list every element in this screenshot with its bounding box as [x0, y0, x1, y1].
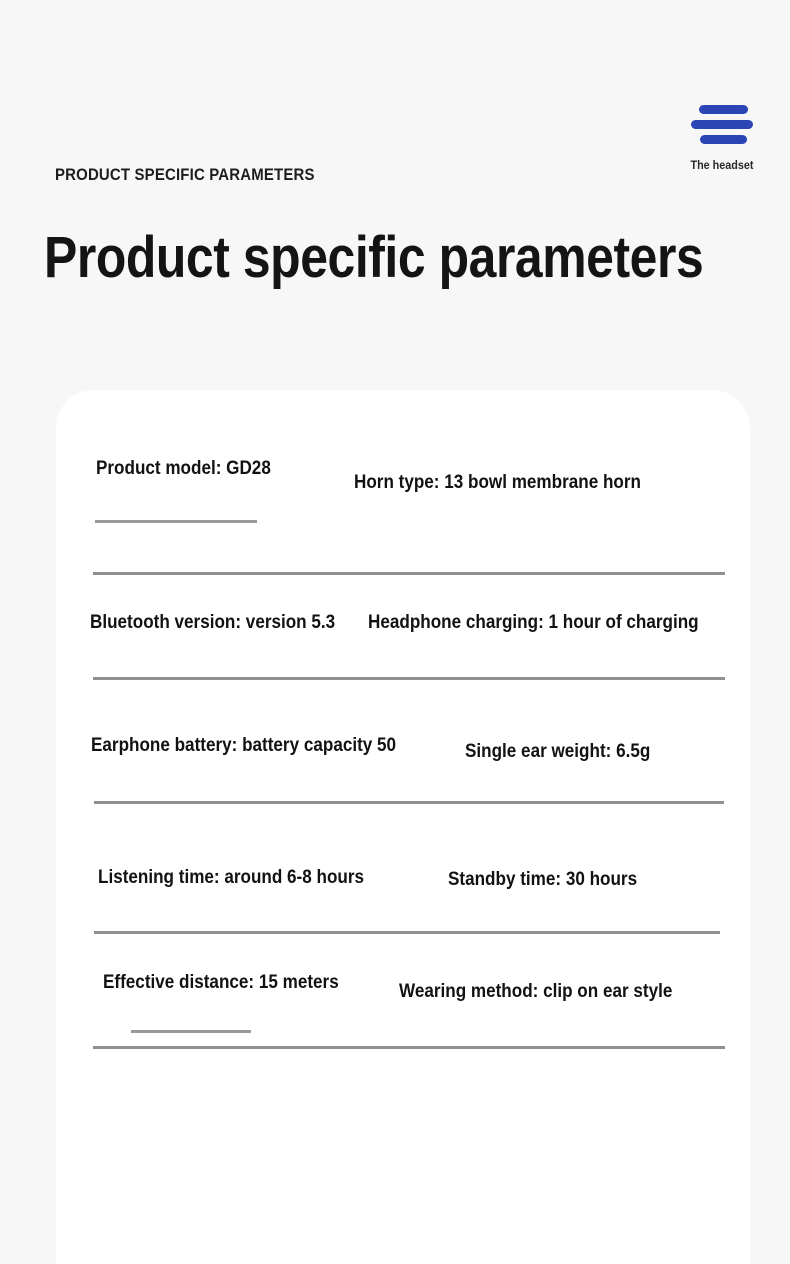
spec-cell-left: Listening time: around 6-8 hours	[98, 867, 364, 890]
page-header: PRODUCT SPECIFIC PARAMETERS Product spec…	[0, 0, 790, 310]
brand-name: The headset	[681, 158, 764, 172]
row-divider	[94, 931, 720, 934]
brand-logo: The headset	[676, 100, 768, 172]
spec-cell-left: Earphone battery: battery capacity 50	[91, 735, 396, 758]
row-divider	[93, 572, 725, 575]
spec-card: Product model: GD28 Horn type: 13 bowl m…	[56, 390, 750, 1264]
faint-band	[56, 390, 678, 462]
spec-cell-right: Horn type: 13 bowl membrane horn	[354, 472, 641, 495]
page-title: Product specific parameters	[44, 228, 703, 289]
spec-cell-right: Wearing method: clip on ear style	[399, 981, 672, 1004]
row-divider	[93, 677, 725, 680]
row-underline-short	[131, 1030, 251, 1033]
three-bars-icon	[687, 100, 757, 150]
spec-cell-right: Standby time: 30 hours	[448, 869, 637, 892]
logo-bar-top	[699, 105, 748, 114]
spec-cell-left: Product model: GD28	[96, 458, 271, 481]
row-divider	[93, 1046, 725, 1049]
row-underline-short	[95, 520, 257, 523]
row-divider	[94, 801, 724, 804]
logo-bar-middle	[691, 120, 753, 129]
spec-cell-left: Effective distance: 15 meters	[103, 972, 339, 995]
spec-cell-right: Headphone charging: 1 hour of charging	[368, 612, 699, 635]
page-eyebrow: PRODUCT SPECIFIC PARAMETERS	[55, 165, 315, 185]
logo-bar-bottom	[700, 135, 747, 144]
product-parameters-page: PRODUCT SPECIFIC PARAMETERS Product spec…	[0, 0, 790, 1264]
spec-cell-right: Single ear weight: 6.5g	[465, 741, 650, 764]
spec-cell-left: Bluetooth version: version 5.3	[90, 612, 335, 635]
